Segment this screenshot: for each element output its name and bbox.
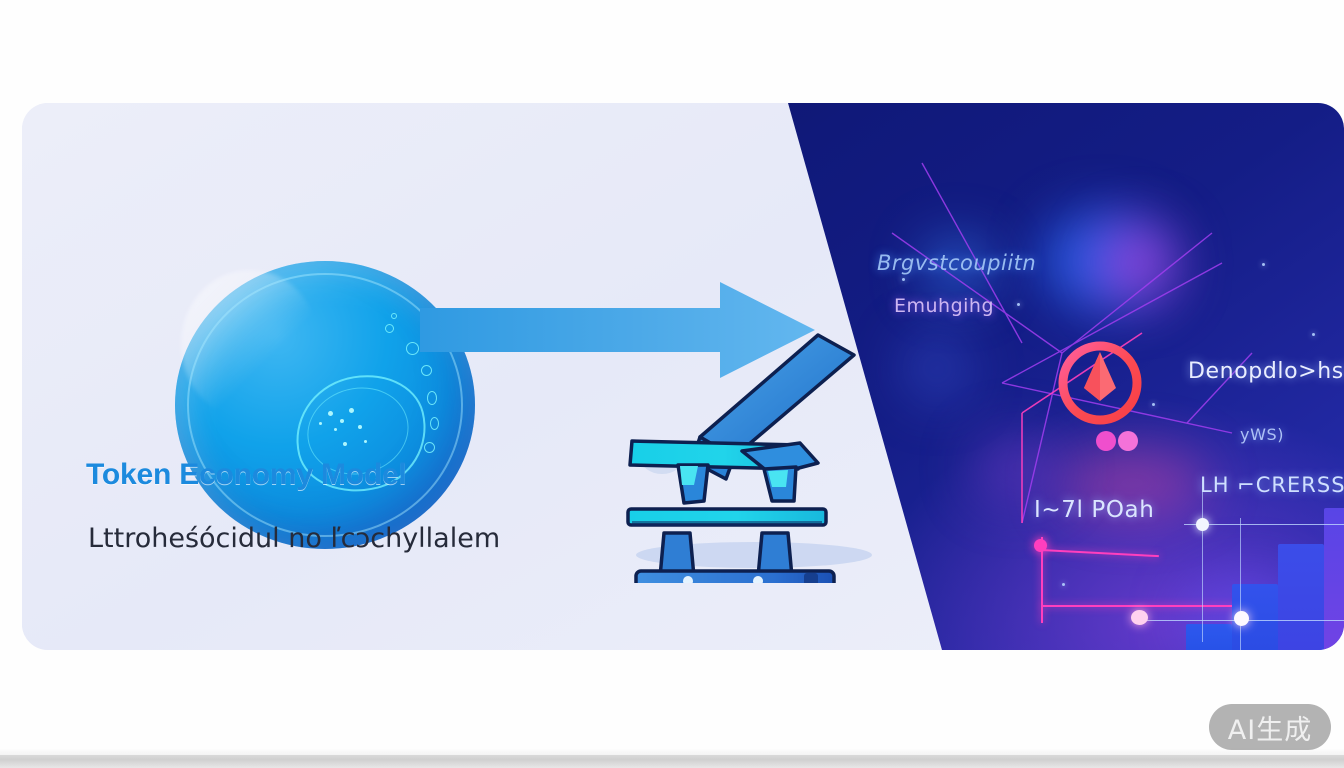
page-bottom-bar: [0, 755, 1344, 768]
chart-bar: [1278, 544, 1324, 650]
chart-bar: [1186, 624, 1232, 650]
page-title: Token Economy Model: [86, 458, 407, 492]
logo-dot: [1118, 431, 1138, 451]
chart-marker: [1234, 611, 1249, 626]
coin-dot: [328, 411, 333, 416]
coin-bubble: [430, 417, 439, 430]
chart-gridline: [1240, 518, 1241, 650]
chart-marker: [1131, 610, 1148, 625]
coin-dot: [349, 408, 354, 413]
robotic-press-machine-icon: [622, 333, 882, 583]
chart-gridline: [1202, 492, 1203, 642]
coin-bubble: [391, 313, 397, 319]
ai-generated-watermark: AI生成: [1209, 704, 1331, 750]
coin-bubble: [406, 342, 419, 355]
coin-dot: [364, 440, 367, 443]
page-subtitle: Lttroheśócidul no ľcɔchyllalem: [88, 523, 500, 554]
chart-marker: [1196, 518, 1209, 531]
coin-bubble: [427, 391, 437, 405]
token-growth-bar-chart: [1140, 508, 1344, 650]
screenshot-root: Token Economy Model Lttroheśócidul no ľc…: [0, 0, 1344, 768]
chart-bar: [1324, 508, 1344, 650]
logo-dot: [1096, 431, 1116, 451]
hero-card: Token Economy Model Lttroheśócidul no ľc…: [22, 103, 1344, 650]
crypto-diamond-logo-icon: [1052, 335, 1148, 431]
